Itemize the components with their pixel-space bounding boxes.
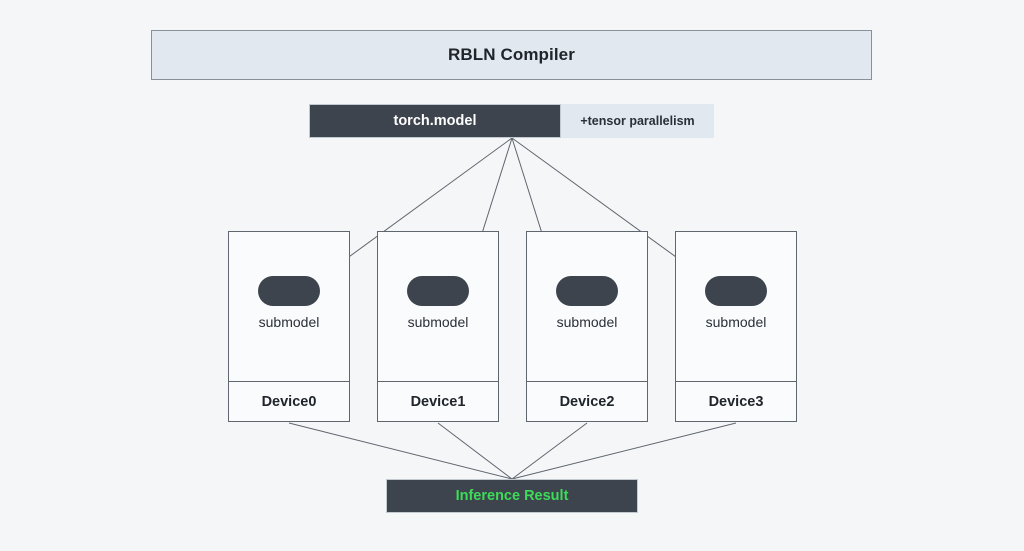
device-footer-0: Device0 xyxy=(229,381,349,421)
submodel-label-2: submodel xyxy=(527,314,647,330)
edge-device0-to-result xyxy=(289,423,512,479)
inference-result-label: Inference Result xyxy=(456,488,569,504)
tensor-parallelism-box: +tensor parallelism xyxy=(561,104,714,138)
device-body-0: submodel xyxy=(229,232,349,382)
connector-lines xyxy=(0,0,1024,551)
device-card-1: submodel Device1 xyxy=(377,231,499,422)
inference-result-box: Inference Result xyxy=(386,479,638,513)
device-name-0: Device0 xyxy=(262,394,317,410)
submodel-pill-0 xyxy=(258,276,320,306)
device-name-2: Device2 xyxy=(560,394,615,410)
submodel-pill-3 xyxy=(705,276,767,306)
torch-model-box: torch.model xyxy=(309,104,561,138)
rbln-compiler-box: RBLN Compiler xyxy=(151,30,872,80)
device-card-3: submodel Device3 xyxy=(675,231,797,422)
device-card-0: submodel Device0 xyxy=(228,231,350,422)
tensor-parallelism-label: +tensor parallelism xyxy=(580,114,694,128)
torch-model-label: torch.model xyxy=(394,113,477,129)
submodel-label-1: submodel xyxy=(378,314,498,330)
submodel-label-3: submodel xyxy=(676,314,796,330)
device-name-1: Device1 xyxy=(411,394,466,410)
device-card-2: submodel Device2 xyxy=(526,231,648,422)
device-footer-3: Device3 xyxy=(676,381,796,421)
submodel-pill-1 xyxy=(407,276,469,306)
edge-device1-to-result xyxy=(438,423,512,479)
device-name-3: Device3 xyxy=(709,394,764,410)
device-body-3: submodel xyxy=(676,232,796,382)
device-body-1: submodel xyxy=(378,232,498,382)
edge-device2-to-result xyxy=(512,423,587,479)
submodel-label-0: submodel xyxy=(229,314,349,330)
submodel-pill-2 xyxy=(556,276,618,306)
rbln-compiler-label: RBLN Compiler xyxy=(448,45,575,65)
tensor-parallelism-diagram: RBLN Compiler torch.model +tensor parall… xyxy=(0,0,1024,551)
device-footer-2: Device2 xyxy=(527,381,647,421)
edge-device3-to-result xyxy=(512,423,736,479)
device-body-2: submodel xyxy=(527,232,647,382)
device-footer-1: Device1 xyxy=(378,381,498,421)
